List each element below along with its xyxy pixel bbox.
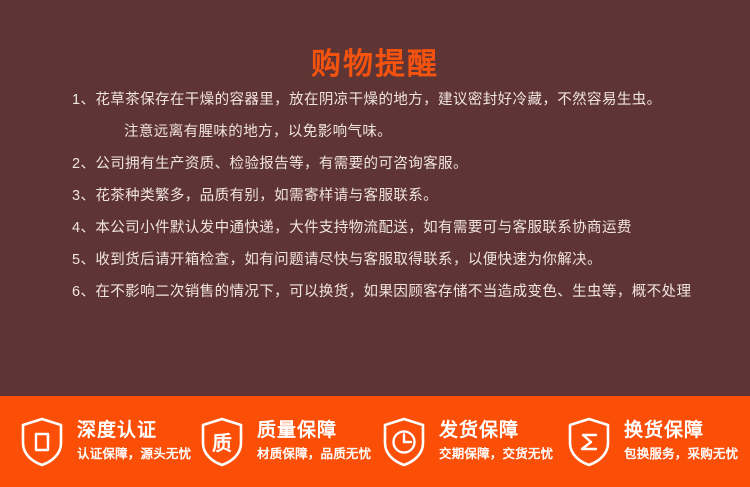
- shopping-notice-page: 购物提醒 1、花草茶保存在干燥的容器里，放在阴凉干燥的地方，建议密封好冷藏，不然…: [0, 0, 750, 487]
- notice-line: 2、公司拥有生产资质、检验报告等，有需要的可咨询客服。: [0, 148, 750, 180]
- notice-line: 5、收到货后请开箱检查，如有问题请尽快与客服取得联系，以便快速为你解决。: [0, 244, 750, 276]
- service-item-title: 深度认证: [77, 419, 191, 443]
- notice-line: 3、花茶种类繁多，品质有别，如需寄样请与客服联系。: [0, 180, 750, 212]
- service-item-text: 深度认证 认证保障，源头无忧: [77, 419, 191, 464]
- shield-clock-icon: [380, 416, 428, 468]
- service-item-exchange: 换货保障 包换服务，采购无忧: [565, 412, 750, 472]
- shield-quality-icon: 质: [198, 416, 246, 468]
- service-item-shipping: 发货保障 交期保障，交货无忧: [380, 412, 565, 472]
- service-item-subtitle: 交期保障，交货无忧: [439, 445, 553, 464]
- notice-list: 1、花草茶保存在干燥的容器里，放在阴凉干燥的地方，建议密封好冷藏，不然容易生虫。…: [0, 84, 750, 308]
- notice-line: 注意远离有腥味的地方，以免影响气味。: [0, 116, 750, 148]
- page-title: 购物提醒: [0, 46, 750, 84]
- service-item-text: 换货保障 包换服务，采购无忧: [624, 419, 738, 464]
- service-item-subtitle: 材质保障，品质无忧: [257, 445, 371, 464]
- svg-text:质: 质: [212, 432, 232, 455]
- service-item-title: 换货保障: [624, 419, 738, 443]
- notice-panel: 购物提醒 1、花草茶保存在干燥的容器里，放在阴凉干燥的地方，建议密封好冷藏，不然…: [0, 0, 750, 396]
- shield-factory-icon: [18, 416, 66, 468]
- service-item-text: 发货保障 交期保障，交货无忧: [439, 419, 553, 464]
- service-item-quality: 质 质量保障 材质保障，品质无忧: [190, 412, 380, 472]
- service-guarantee-bar: 深度认证 认证保障，源头无忧 质 质量保障 材质保障，品质无忧 发货保障: [0, 396, 750, 487]
- service-item-title: 发货保障: [439, 419, 553, 443]
- service-item-text: 质量保障 材质保障，品质无忧: [257, 419, 371, 464]
- shield-exchange-icon: [565, 416, 613, 468]
- notice-line: 6、在不影响二次销售的情况下，可以换货，如果因顾客存储不当造成变色、生虫等，概不…: [0, 276, 750, 308]
- notice-line: 1、花草茶保存在干燥的容器里，放在阴凉干燥的地方，建议密封好冷藏，不然容易生虫。: [0, 84, 750, 116]
- service-item-title: 质量保障: [257, 419, 371, 443]
- service-item-certification: 深度认证 认证保障，源头无忧: [0, 412, 190, 472]
- service-item-subtitle: 认证保障，源头无忧: [77, 445, 191, 464]
- notice-line: 4、本公司小件默认发中通快递，大件支持物流配送，如有需要可与客服联系协商运费: [0, 212, 750, 244]
- service-item-subtitle: 包换服务，采购无忧: [624, 445, 738, 464]
